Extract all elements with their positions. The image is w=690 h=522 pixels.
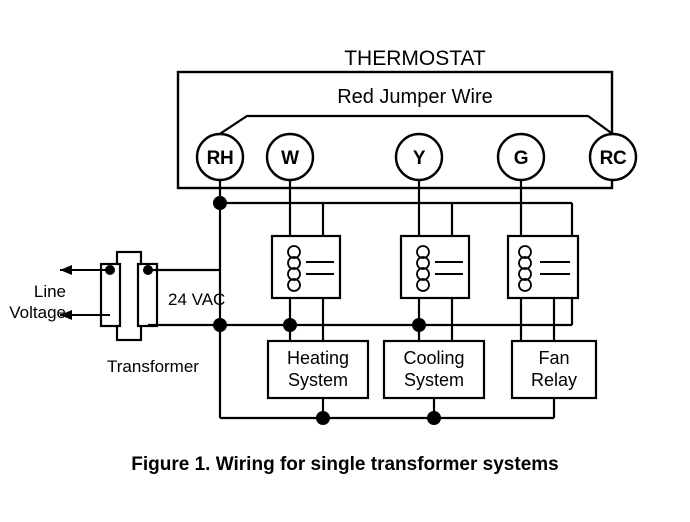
junction-dot-heating-common [283, 318, 297, 332]
wiring-diagram-svg: THERMOSTAT Red Jumper Wire RH W Y G RC [0, 0, 690, 522]
terminal-g[interactable]: G [498, 134, 544, 180]
load-cooling-system: Cooling System [384, 341, 484, 398]
fan-relay-label-line1: Fan [538, 348, 569, 368]
load-fan-relay: Fan Relay [512, 341, 596, 398]
line-voltage-label-line1: Line [34, 282, 66, 301]
wiring-diagram-figure: THERMOSTAT Red Jumper Wire RH W Y G RC [0, 0, 690, 522]
red-jumper-wire-label: Red Jumper Wire [337, 86, 493, 108]
terminal-g-label: G [514, 148, 528, 169]
transformer: Line Voltage Transformer 24 VAC [9, 252, 225, 376]
terminal-rc-label: RC [600, 148, 627, 169]
junction-dot-cooling-common [412, 318, 426, 332]
terminal-rh-label: RH [207, 148, 234, 169]
load-heating-system: Heating System [268, 341, 368, 398]
relay-coil-contact-heating [272, 236, 340, 298]
junction-dot-heating-return [316, 411, 330, 425]
terminal-y-label: Y [413, 148, 426, 169]
terminal-rh[interactable]: RH [197, 134, 243, 180]
cooling-system-label-line2: System [404, 370, 464, 390]
line-voltage-label-line2: Voltage [9, 303, 66, 322]
cooling-relay-box [401, 236, 469, 298]
heating-system-label-line1: Heating [287, 348, 349, 368]
terminal-w-label: W [281, 148, 299, 169]
terminal-w[interactable]: W [267, 134, 313, 180]
figure-caption: Figure 1. Wiring for single transformer … [131, 454, 558, 475]
fan-relay-box [508, 236, 578, 298]
relay-coil-contact-fan [508, 236, 578, 298]
page-title: THERMOSTAT [344, 47, 486, 70]
relay-coil-contact-cooling [401, 236, 469, 298]
terminal-rc[interactable]: RC [590, 134, 636, 180]
transformer-label: Transformer [107, 357, 199, 376]
cooling-system-label-line1: Cooling [403, 348, 464, 368]
terminal-y[interactable]: Y [396, 134, 442, 180]
fan-relay-label-line2: Relay [531, 370, 577, 390]
junction-dot-cooling-return [427, 411, 441, 425]
heating-system-label-line2: System [288, 370, 348, 390]
heating-relay-box [272, 236, 340, 298]
secondary-voltage-label: 24 VAC [168, 290, 225, 309]
junction-dot-rh-bus [213, 196, 227, 210]
